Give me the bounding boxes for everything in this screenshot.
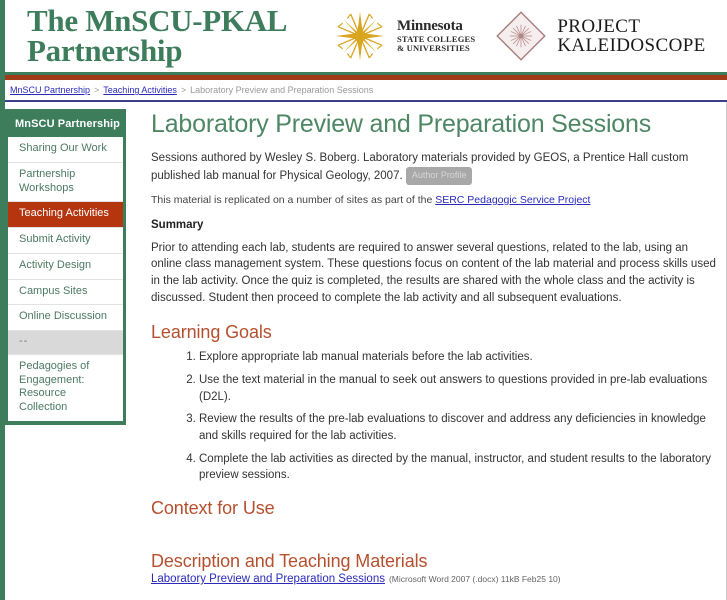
site-brand-title: The MnSCU-PKAL Partnership (27, 6, 317, 67)
sidebar-item-partnership-workshops[interactable]: Partnership Workshops (8, 163, 123, 203)
pkal-line-2: KALEIDOSCOPE (557, 36, 705, 55)
sidebar: MnSCU Partnership Sharing Our Work Partn… (5, 109, 126, 425)
site-header: The MnSCU-PKAL Partnership (5, 0, 727, 72)
section-heading-learning-goals: Learning Goals (151, 322, 716, 343)
replicated-notice: This material is replicated on a number … (151, 194, 716, 206)
breadcrumb-current-page: Laboratory Preview and Preparation Sessi… (190, 85, 373, 95)
section-heading-description-and-teaching-materials: Description and Teaching Materials (151, 551, 716, 572)
serc-pedagogic-service-project-link[interactable]: SERC Pedagogic Service Project (435, 194, 590, 206)
logo-minnesota-state: Minnesota STATE COLLEGES & UNIVERSITIES (331, 7, 475, 65)
list-item: Complete the lab activities as directed … (199, 451, 716, 484)
content-area: MnSCU Partnership Sharing Our Work Partn… (5, 102, 727, 600)
sidebar-item-submit-activity[interactable]: Submit Activity (8, 228, 123, 254)
logo-project-kaleidoscope: PROJECT KALEIDOSCOPE (493, 8, 705, 64)
sidebar-nav-list: Sharing Our Work Partnership Workshops T… (8, 137, 123, 421)
sidebar-item-online-discussion[interactable]: Online Discussion (8, 305, 123, 331)
sidebar-item-activity-design[interactable]: Activity Design (8, 254, 123, 280)
page-root: The MnSCU-PKAL Partnership (0, 0, 727, 600)
breadcrumb-link-teaching-activities[interactable]: Teaching Activities (103, 85, 177, 95)
pkal-line-1: PROJECT (557, 17, 705, 36)
project-kaleidoscope-diamond-icon (493, 8, 549, 64)
project-kaleidoscope-wordmark: PROJECT KALEIDOSCOPE (557, 17, 705, 55)
summary-body: Prior to attending each lab, students ar… (151, 240, 716, 307)
intro-paragraph: Sessions authored by Wesley S. Boberg. L… (151, 150, 716, 185)
breadcrumb-separator-1: > (94, 85, 99, 95)
list-item: Explore appropriate lab manual materials… (199, 349, 716, 366)
page-title: Laboratory Preview and Preparation Sessi… (151, 110, 716, 139)
breadcrumb: MnSCU Partnership > Teaching Activities … (5, 80, 727, 102)
list-item: Review the results of the pre-lab evalua… (199, 411, 716, 444)
main-content: Laboratory Preview and Preparation Sessi… (126, 102, 727, 600)
teaching-material-file-link[interactable]: Laboratory Preview and Preparation Sessi… (151, 573, 385, 585)
list-item: Use the text material in the manual to s… (199, 372, 716, 405)
minnesota-line-1: Minnesota (397, 19, 475, 35)
section-heading-context-for-use: Context for Use (151, 498, 716, 519)
author-profile-button[interactable]: Author Profile (406, 167, 473, 185)
sidebar-title: MnSCU Partnership (8, 112, 123, 137)
sidebar-item-teaching-activities[interactable]: Teaching Activities (8, 202, 123, 228)
sidebar-item-pedagogies-of-engagement[interactable]: Pedagogies of Engagement: Resource Colle… (8, 355, 123, 421)
teaching-material-file-meta: (Microsoft Word 2007 (.docx) 11kB Feb25 … (389, 574, 561, 584)
minnesota-starburst-icon (331, 7, 389, 65)
partner-logos: Minnesota STATE COLLEGES & UNIVERSITIES (331, 7, 706, 65)
breadcrumb-separator-2: > (181, 85, 186, 95)
summary-heading: Summary (151, 219, 716, 231)
minnesota-line-3: & UNIVERSITIES (397, 44, 475, 53)
sidebar-divider: -- (8, 331, 123, 355)
sidebar-item-campus-sites[interactable]: Campus Sites (8, 280, 123, 306)
context-for-use-body (151, 525, 716, 551)
learning-goals-list: Explore appropriate lab manual materials… (151, 349, 716, 484)
teaching-material-file-row: Laboratory Preview and Preparation Sessi… (151, 573, 716, 585)
minnesota-wordmark: Minnesota STATE COLLEGES & UNIVERSITIES (397, 19, 475, 53)
breadcrumb-link-mnscu-partnership[interactable]: MnSCU Partnership (10, 85, 90, 95)
replicated-prefix: This material is replicated on a number … (151, 194, 435, 206)
sidebar-item-sharing-our-work[interactable]: Sharing Our Work (8, 137, 123, 163)
